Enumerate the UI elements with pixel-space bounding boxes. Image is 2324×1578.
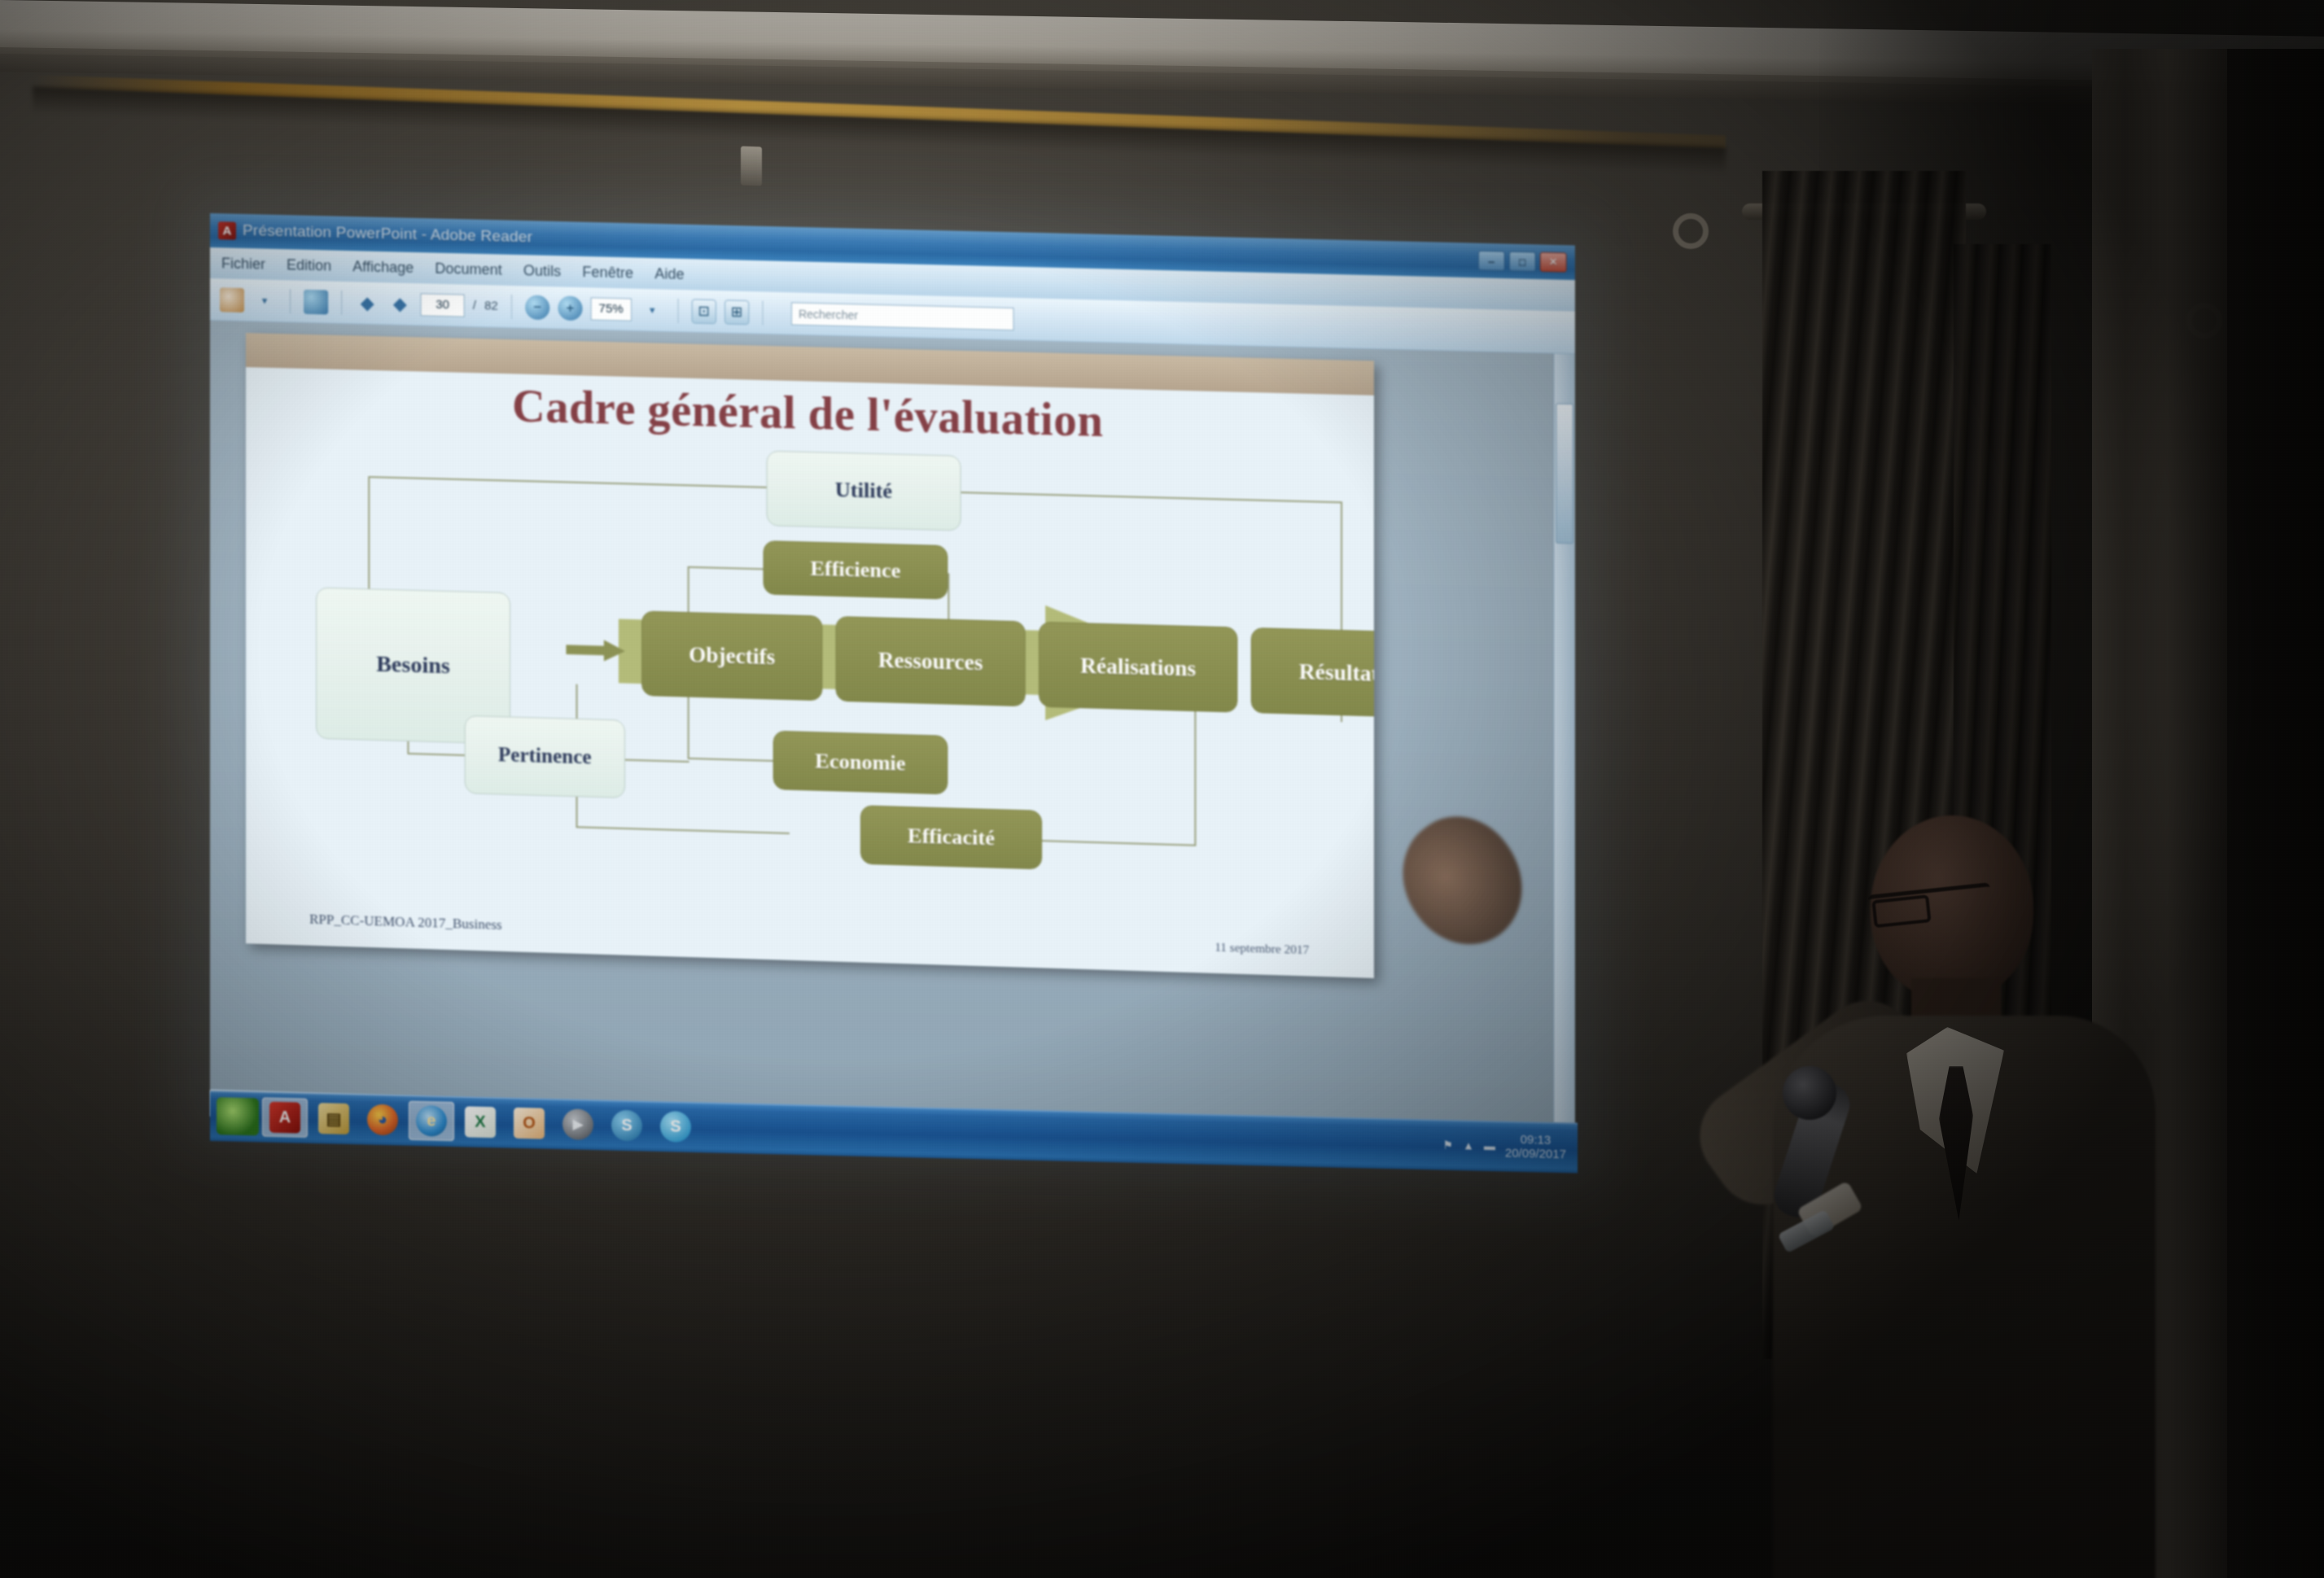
projection-screen: A Présentation PowerPoint - Adobe Reader… [210,213,1575,1161]
connector-pertinence-in [407,753,464,756]
excel-icon: X [465,1106,496,1138]
connector-efficacite-left [576,826,790,834]
taskbar-media-player[interactable]: ▶ [555,1104,601,1144]
total-pages-label: 82 [484,299,498,313]
folder-icon: ▤ [318,1103,349,1134]
menu-item-fichier[interactable]: Fichier [221,255,265,273]
connector-utilite-right [961,492,1342,503]
tray-clock[interactable]: 09:13 20/09/2017 [1505,1132,1566,1161]
adobe-reader-window: A Présentation PowerPoint - Adobe Reader… [210,213,1575,1161]
microphone-head [1783,1066,1836,1120]
tray-notification-icon[interactable]: ⚑ [1443,1138,1454,1152]
clock-time: 09:13 [1505,1132,1566,1147]
search-input[interactable]: Rechercher [791,302,1014,330]
taskbar-skype[interactable]: S [653,1107,698,1147]
print-dropdown-icon[interactable]: ▾ [252,288,277,313]
connector-economie-left [688,758,773,762]
current-page-input[interactable]: 30 [420,293,464,317]
taskbar-firefox[interactable]: ◕ [360,1099,405,1139]
adobe-reader-icon: A [269,1102,300,1134]
close-button[interactable]: ✕ [1540,252,1567,273]
node-resultats: Résultats [1251,627,1374,718]
vertical-scrollbar[interactable] [1553,354,1575,1133]
connector-utilite-left [368,476,766,488]
node-pertinence: Pertinence [465,715,625,798]
toolbar-divider [290,289,291,313]
internet-explorer-icon: e [416,1105,447,1137]
taskbar-internet-explorer[interactable]: e [409,1101,454,1141]
menu-item-fenetre[interactable]: Fenêtre [582,263,633,282]
outlook-icon: O [514,1108,545,1139]
system-tray: ⚑ ▲ ▬ 09:13 20/09/2017 [1443,1130,1578,1161]
fit-width-icon[interactable]: ⊡ [692,299,716,324]
node-efficience: Efficience [764,540,948,600]
menu-item-edition[interactable]: Edition [287,256,331,274]
curtain-ring [1673,213,1709,249]
taskbar-skype-business[interactable]: S [604,1105,650,1145]
taskbar-adobe-reader[interactable]: A [262,1098,308,1138]
fit-page-icon[interactable]: ⊞ [724,299,749,325]
connector-efficacite-right-vertical [1194,702,1196,846]
toolbar-divider [677,298,678,322]
taskbar-excel[interactable]: X [457,1102,503,1142]
menu-item-aide[interactable]: Aide [654,265,684,283]
tray-network-icon[interactable]: ▬ [1484,1139,1495,1152]
node-realisations: Réalisations [1039,622,1237,713]
room-corner-dark [2227,49,2324,1578]
skype-business-icon: S [611,1110,642,1142]
document-viewport: Cadre général de l'évaluation [210,321,1575,1133]
zoom-level-field[interactable]: 75% [591,297,632,321]
node-economie: Economie [773,731,948,795]
taskbar-file-explorer[interactable]: ▤ [311,1099,357,1139]
menu-item-document[interactable]: Document [435,260,501,278]
skype-icon: S [660,1111,691,1143]
pdf-page: Cadre général de l'évaluation [246,333,1374,978]
evaluation-framework-diagram: Utilité Efficience Besoins Objectifs Res… [246,431,1374,953]
node-objectifs: Objectifs [641,611,822,702]
ceiling-fixture [741,146,762,186]
firefox-icon: ◕ [367,1104,398,1136]
window-controls: – □ ✕ [1478,251,1567,273]
menu-item-affichage[interactable]: Affichage [352,258,414,277]
print-icon[interactable] [220,287,244,313]
node-efficacite: Efficacité [860,805,1042,869]
node-utilite: Utilité [767,451,961,531]
maximize-button[interactable]: □ [1509,251,1536,272]
clock-date: 20/09/2017 [1505,1146,1566,1161]
page-separator: / [473,299,476,313]
adobe-reader-icon: A [218,221,236,240]
connector-efficience-left [688,566,764,570]
taskbar-spacer [702,1127,1440,1144]
next-page-icon[interactable]: ◆ [387,291,412,317]
toolbar-divider [762,300,763,325]
room-scene: A Présentation PowerPoint - Adobe Reader… [0,0,2324,1578]
besoins-to-objectifs-arrow [566,639,625,662]
toolbar-divider [341,290,342,314]
toolbar-divider [511,294,512,318]
start-button[interactable] [217,1097,259,1135]
previous-page-icon[interactable]: ◆ [355,291,379,316]
zoom-out-icon[interactable]: − [525,295,549,320]
zoom-dropdown-icon[interactable]: ▾ [640,297,664,322]
document-scroll-area[interactable]: Cadre général de l'évaluation [210,321,1553,1132]
minimize-button[interactable]: – [1478,251,1505,271]
save-icon[interactable] [304,289,328,314]
connector-economie-up [688,687,689,758]
presenter-person [1726,798,2182,1578]
menu-item-outils[interactable]: Outils [523,262,561,280]
media-player-icon: ▶ [562,1108,593,1140]
taskbar-outlook[interactable]: O [506,1104,552,1143]
node-ressources: Ressources [836,616,1026,706]
zoom-in-icon[interactable]: + [558,295,582,321]
connector-pertinence-out [624,759,689,763]
slide-footer-date: 11 septembre 2017 [1215,942,1309,959]
tray-volume-icon[interactable]: ▲ [1463,1139,1474,1152]
scrollbar-thumb[interactable] [1556,404,1573,544]
